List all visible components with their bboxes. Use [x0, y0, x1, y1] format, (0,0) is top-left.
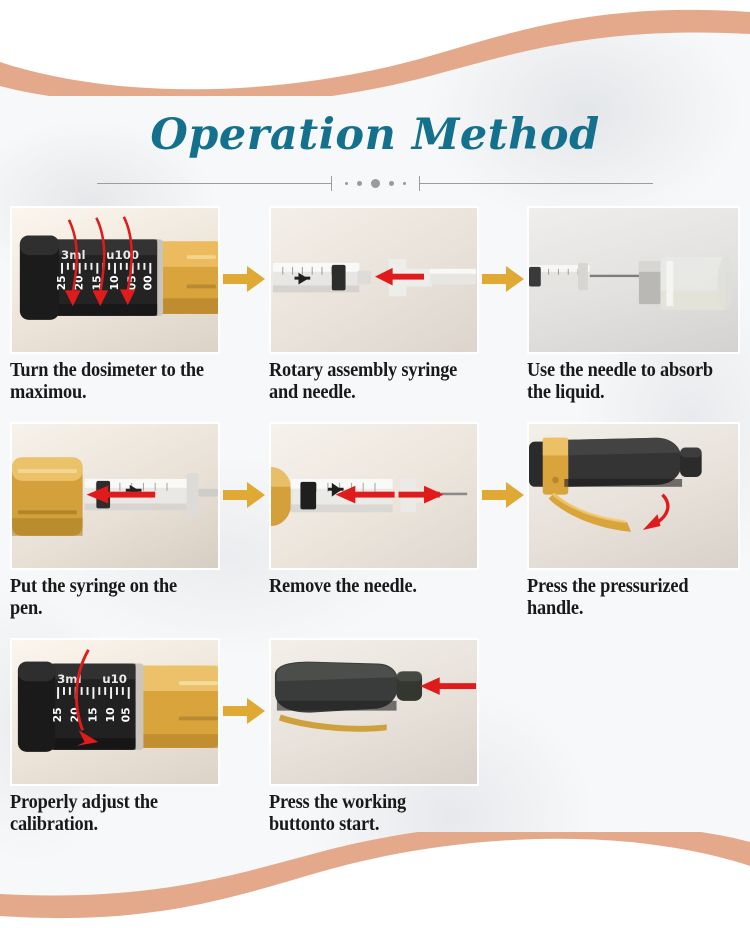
step-item-4: Put the syringe on the pen.	[10, 422, 220, 620]
svg-text:00: 00	[141, 275, 154, 290]
svg-text:10: 10	[104, 708, 117, 723]
step-item-2: Rotary assembly syringe and needle.	[269, 206, 479, 404]
calibration-dial-illustration: 25 20 15 10 05 3ml u10	[12, 640, 218, 785]
step-image-1: 25 20 15 10 05 00 3ml u100	[10, 206, 220, 354]
step-image-5	[269, 422, 479, 570]
flow-arrow-cell-5	[220, 638, 269, 836]
divider-dot-4	[389, 181, 394, 186]
step-caption-1: Turn the dosimeter to the maximou.	[10, 360, 207, 404]
step-caption-4: Put the syringe on the pen.	[10, 576, 207, 620]
svg-text:25: 25	[55, 275, 68, 290]
step-image-2	[269, 206, 479, 354]
step-image-7: 25 20 15 10 05 3ml u10	[10, 638, 220, 786]
step-image-6	[527, 422, 740, 570]
step-item-1: 25 20 15 10 05 00 3ml u100	[10, 206, 220, 404]
steps-grid: 25 20 15 10 05 00 3ml u100	[0, 206, 750, 836]
step-item-6: Press the pressurized handle.	[527, 422, 740, 620]
top-wave-decoration	[0, 0, 750, 96]
step-caption-7: Properly adjust the calibration.	[10, 792, 207, 836]
needle-vial-illustration	[529, 208, 738, 353]
row-spacer-2	[10, 620, 740, 638]
dosimeter-dial-illustration: 25 20 15 10 05 00 3ml u100	[12, 208, 218, 353]
title-divider	[97, 175, 653, 191]
page-header: Operation Method	[0, 96, 750, 208]
working-button-illustration	[271, 640, 477, 785]
step-image-8	[269, 638, 479, 786]
flow-arrow-cell-4	[479, 422, 528, 620]
divider-line-right	[420, 183, 654, 184]
svg-text:3ml: 3ml	[61, 248, 85, 262]
step-item-3: Use the needle to absorb the liquid.	[527, 206, 740, 404]
divider-dot-5	[403, 182, 406, 185]
svg-text:15: 15	[86, 708, 99, 723]
flow-arrow-cell-1	[220, 206, 269, 404]
svg-text:25: 25	[51, 708, 64, 723]
flow-arrow-icon	[223, 696, 265, 726]
step-caption-8: Press the working buttonto start.	[269, 792, 466, 836]
page-title: Operation Method	[0, 96, 750, 157]
step-image-4	[10, 422, 220, 570]
divider-dot-2	[357, 181, 362, 186]
step-item-8: Press the working buttonto start.	[269, 638, 479, 836]
flow-arrow-icon	[482, 480, 524, 510]
svg-text:05: 05	[120, 708, 133, 723]
step-image-3	[527, 206, 740, 354]
flow-arrow-cell-3	[220, 422, 269, 620]
row-spacer-1	[10, 404, 740, 422]
step-caption-6: Press the pressurized handle.	[527, 576, 727, 620]
flow-arrow-cell-2	[479, 206, 528, 404]
flow-arrow-icon	[223, 264, 265, 294]
flow-arrow-icon	[482, 264, 524, 294]
syringe-needle-assembly-illustration	[271, 208, 477, 353]
step-caption-3: Use the needle to absorb the liquid.	[527, 360, 727, 404]
divider-dots	[332, 179, 419, 188]
step-item-5: Remove the needle.	[269, 422, 479, 620]
syringe-on-pen-illustration	[12, 424, 218, 569]
step-caption-2: Rotary assembly syringe and needle.	[269, 360, 466, 404]
empty-cell-b	[527, 638, 740, 836]
empty-cell-a	[479, 638, 528, 836]
operation-method-page: Operation Method	[0, 0, 750, 928]
flow-arrow-icon	[223, 480, 265, 510]
svg-text:u100: u100	[106, 248, 139, 262]
svg-text:u10: u10	[102, 672, 127, 686]
pressurized-handle-illustration	[529, 424, 738, 569]
step-caption-5: Remove the needle.	[269, 576, 466, 598]
divider-dot-1	[345, 182, 348, 185]
svg-text:10: 10	[108, 275, 121, 290]
divider-dot-3	[371, 179, 380, 188]
divider-line-left	[97, 183, 331, 184]
remove-needle-illustration	[271, 424, 477, 569]
bottom-wave-decoration	[0, 832, 750, 928]
step-item-7: 25 20 15 10 05 3ml u10 Properly adjust t	[10, 638, 220, 836]
